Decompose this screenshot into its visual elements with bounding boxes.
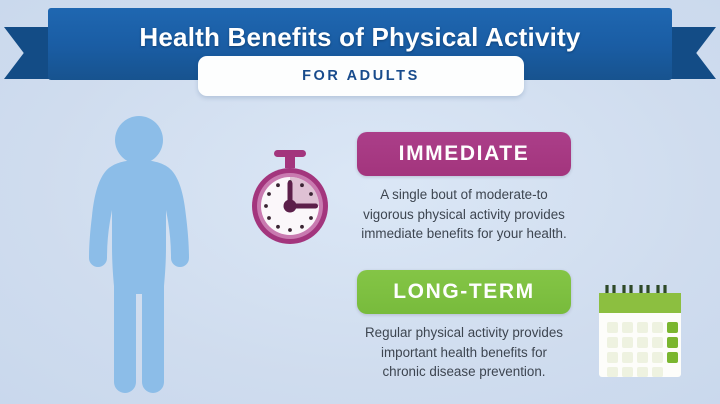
badge-label: LONG-TERM <box>393 280 535 304</box>
status-badge-immediate: IMMEDIATE <box>357 132 571 176</box>
status-badge-long-term: LONG-TERM <box>357 270 571 314</box>
badge-label: IMMEDIATE <box>399 142 530 166</box>
calendar-icon <box>590 281 690 381</box>
benefit-line: chronic disease prevention. <box>330 362 598 382</box>
person-silhouette-icon <box>78 112 210 398</box>
benefit-block-long-term: LONG-TERM Regular physical activity prov… <box>330 270 598 382</box>
benefit-line: A single bout of moderate-to <box>330 185 598 205</box>
benefit-line: immediate benefits for your health. <box>330 224 598 244</box>
benefit-line: vigorous physical activity provides <box>330 205 598 225</box>
audience-label: FOR ADULTS <box>302 68 420 84</box>
benefit-description: Regular physical activity provides impor… <box>330 323 598 382</box>
benefit-line: important health benefits for <box>330 343 598 363</box>
benefit-description: A single bout of moderate-to vigorous ph… <box>330 185 598 244</box>
infographic-canvas: Health Benefits of Physical Activity FOR… <box>0 0 720 404</box>
benefit-line: Regular physical activity provides <box>330 323 598 343</box>
audience-card: FOR ADULTS <box>198 56 524 96</box>
stopwatch-icon <box>243 148 337 248</box>
benefit-block-immediate: IMMEDIATE A single bout of moderate-to v… <box>330 132 598 244</box>
banner: Health Benefits of Physical Activity FOR… <box>0 0 720 100</box>
